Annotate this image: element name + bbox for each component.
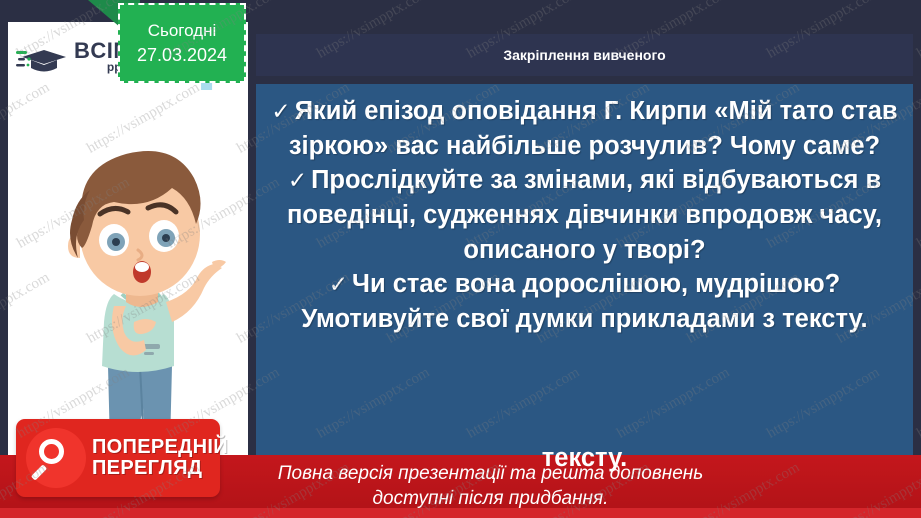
preview-label-line-2: ПЕРЕГЛЯД (92, 458, 228, 479)
question-list: ✓Який епізод оповідання Г. Кирпи «Мій та… (266, 94, 903, 337)
watermark-text: https://vsimpptx.com (914, 364, 921, 442)
banner-footer-strip (0, 508, 921, 518)
preview-label-line-1: ПОПЕРЕДНІЙ (92, 437, 228, 458)
date-badge-label: Сьогодні (148, 21, 217, 41)
list-item: ✓Який епізод оповідання Г. Кирпи «Мій та… (266, 94, 903, 163)
question-text: Чи стає вона дорослішою, мудрішою? Умоти… (301, 270, 867, 333)
preview-badge: ПОПЕРЕДНІЙ ПЕРЕГЛЯД (16, 419, 220, 497)
header-bar: Закріплення вивченого (256, 34, 913, 76)
page-title: Закріплення вивченого (503, 47, 665, 63)
list-item: ✓Прослідкуйте за змінами, які відбувають… (266, 163, 903, 267)
question-text: Прослідкуйте за змінами, які відбуваютьс… (287, 166, 882, 263)
content-area: ✓Який епізод оповідання Г. Кирпи «Мій та… (256, 84, 913, 496)
watermark-text: https://vsimpptx.com (914, 174, 921, 252)
checkmark-icon: ✓ (271, 98, 294, 124)
question-text: Який епізод оповідання Г. Кирпи «Мій тат… (289, 97, 898, 160)
watermark-text: https://vsimpptx.com (914, 0, 921, 63)
list-item: ✓Чи стає вона дорослішою, мудрішою? Умот… (266, 267, 903, 336)
checkmark-icon: ✓ (329, 271, 352, 297)
presentation-slide: BCIM pptx (0, 0, 921, 518)
checkmark-icon: ✓ (288, 167, 311, 193)
date-badge: Сьогодні 27.03.2024 (118, 3, 246, 83)
date-badge-value: 27.03.2024 (137, 45, 227, 66)
obscured-text: тексту. (256, 444, 913, 473)
magnifier-icon (26, 428, 86, 488)
thinking-boy-illustration (22, 116, 248, 452)
graduation-cap-icon (16, 44, 74, 80)
